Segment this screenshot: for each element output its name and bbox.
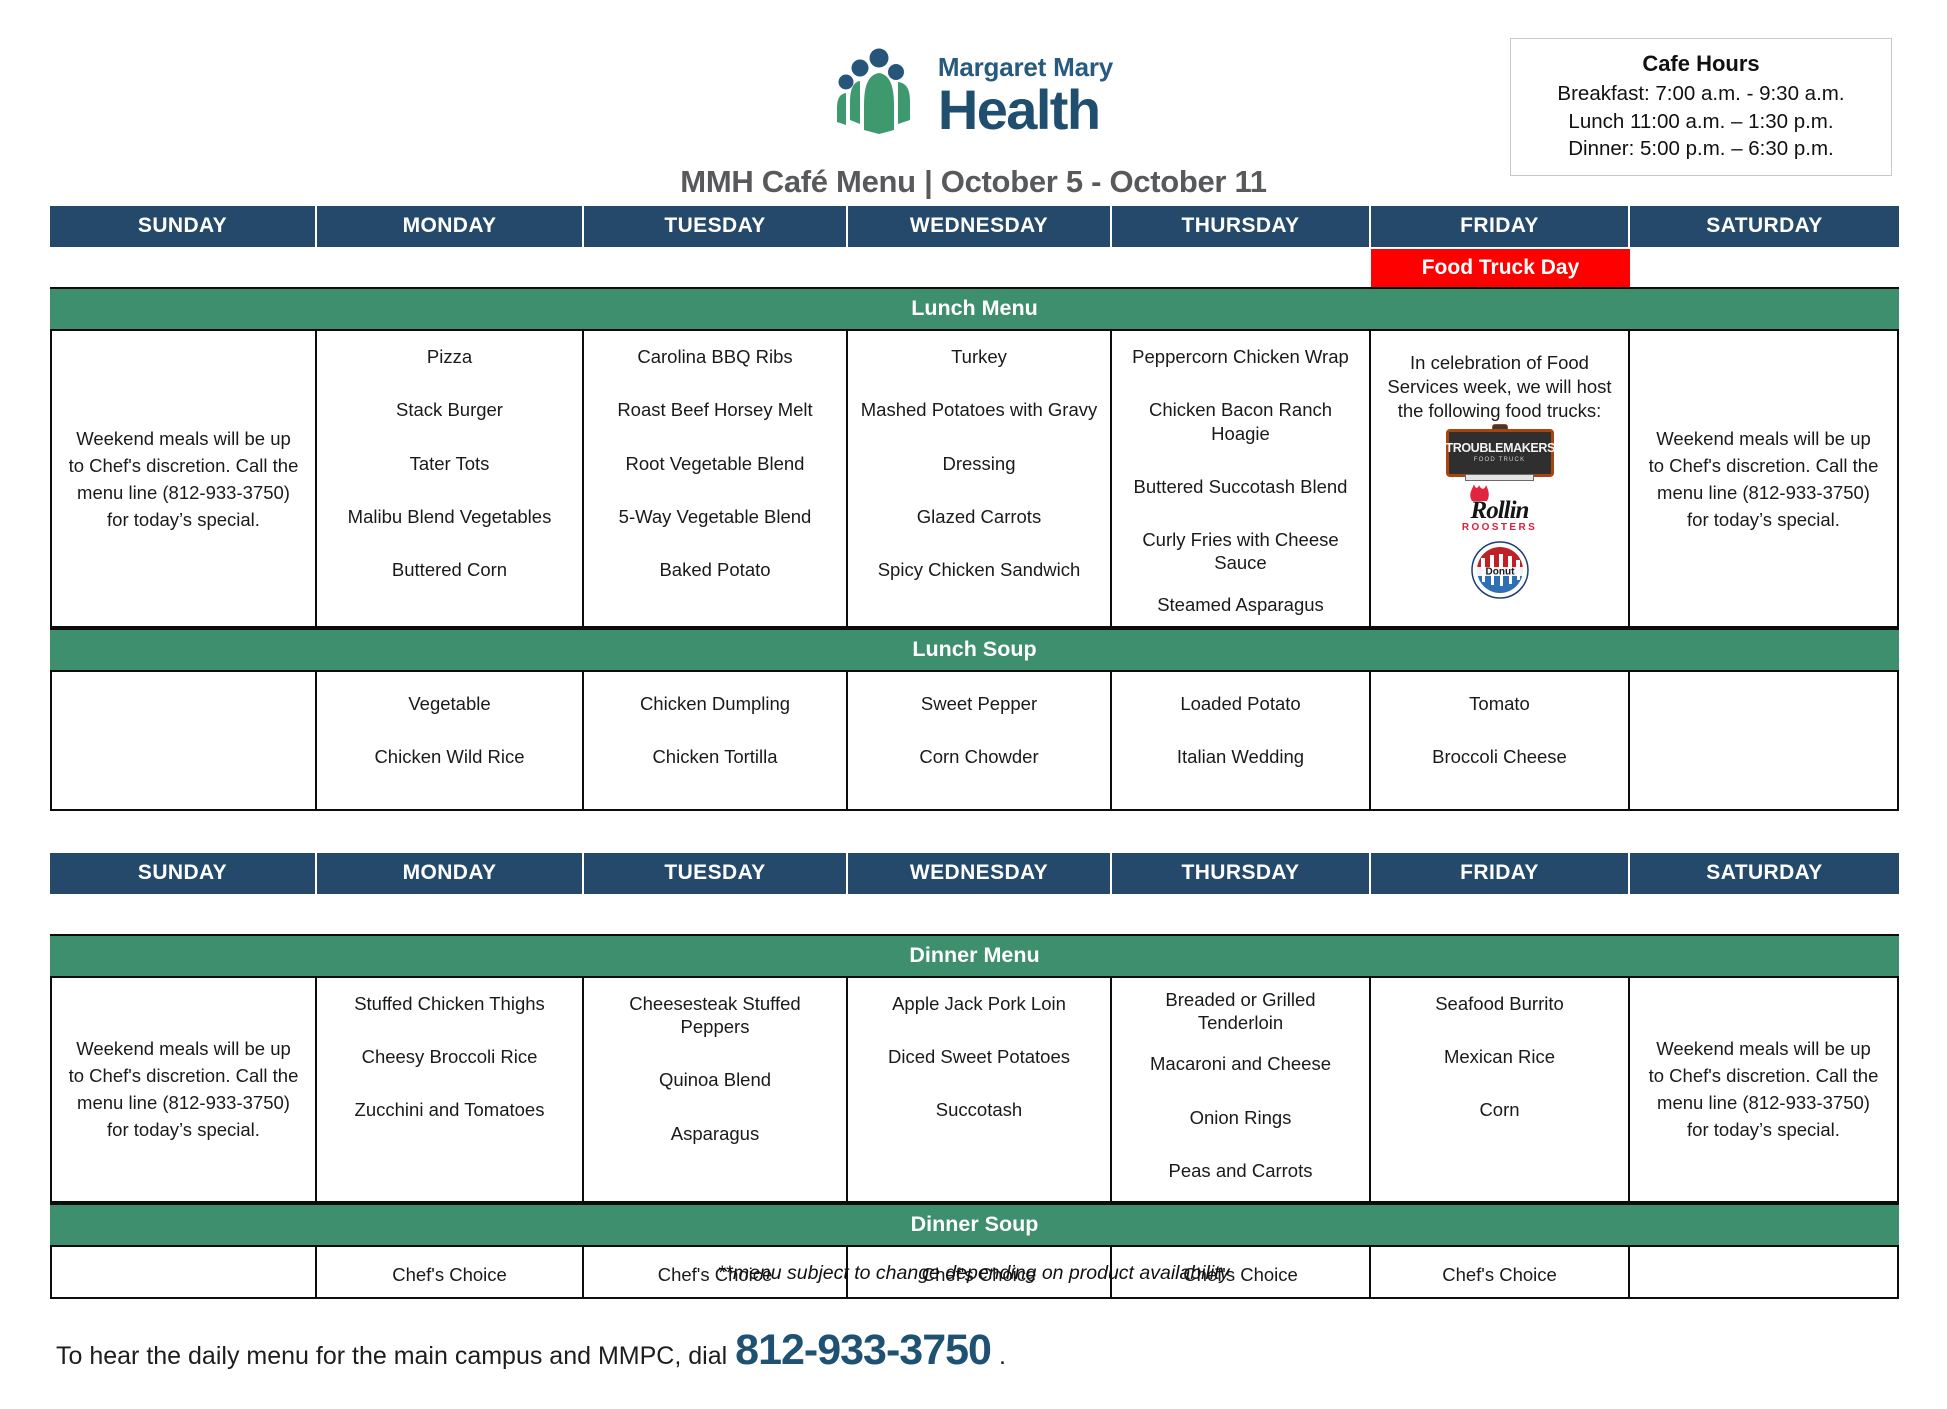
lunch-soup-cell-sunday — [50, 672, 317, 809]
menu-item: Quinoa Blend — [594, 1068, 836, 1091]
weekend-note-saturday-lunch: Weekend meals will be up to Chef's discr… — [1646, 425, 1881, 533]
day-header-wednesday: WEDNESDAY — [848, 206, 1112, 247]
lunch-cell-saturday: Weekend meals will be up to Chef's discr… — [1630, 331, 1899, 626]
lunch-cell-wednesday: Turkey Mashed Potatoes with Gravy Dressi… — [848, 331, 1112, 626]
dinner-cell-thursday: Breaded or Grilled Tenderloin Macaroni a… — [1112, 978, 1371, 1201]
day-header-sunday: SUNDAY — [50, 206, 317, 247]
brand-line-1: Margaret Mary — [938, 54, 1113, 80]
dinner-cell-friday: Seafood Burrito Mexican Rice Corn — [1371, 978, 1630, 1201]
day-header-saturday-2: SATURDAY — [1630, 853, 1899, 894]
menu-item: Peas and Carrots — [1122, 1159, 1359, 1182]
menu-item: Apple Jack Pork Loin — [858, 992, 1100, 1015]
day-header-monday: MONDAY — [317, 206, 584, 247]
brand-line-2: Health — [938, 82, 1113, 138]
menu-item: Cheesesteak Stuffed Peppers — [594, 992, 836, 1039]
flag-empty-tuesday — [584, 249, 848, 287]
day-header-tuesday-2: TUESDAY — [584, 853, 848, 894]
lunch-cell-thursday: Peppercorn Chicken Wrap Chicken Bacon Ra… — [1112, 331, 1371, 626]
flag-empty-saturday — [1630, 249, 1899, 287]
menu-item: Buttered Succotash Blend — [1122, 475, 1359, 498]
menu-item: Asparagus — [594, 1122, 836, 1145]
band-dinner-soup: Dinner Soup — [50, 1203, 1899, 1247]
day-header-thursday-2: THURSDAY — [1112, 853, 1371, 894]
page-header: Margaret Mary Health MMH Café Menu | Oct… — [0, 0, 1947, 206]
menu-item: Stack Burger — [327, 398, 572, 421]
band-lunch-soup: Lunch Soup — [50, 628, 1899, 672]
menu-item: Curly Fries with Cheese Sauce — [1122, 528, 1359, 575]
day-header-monday-2: MONDAY — [317, 853, 584, 894]
dinner-cell-sunday: Weekend meals will be up to Chef's discr… — [50, 978, 317, 1201]
soup-item: Italian Wedding — [1122, 745, 1359, 768]
food-truck-intro: In celebration of Food Services week, we… — [1381, 351, 1618, 423]
menu-item: Carolina BBQ Ribs — [594, 345, 836, 368]
flag-empty-sunday — [50, 249, 317, 287]
menu-item: Zucchini and Tomatoes — [327, 1098, 572, 1121]
svg-text:Donut: Donut — [1485, 567, 1515, 578]
soup-item: Chicken Wild Rice — [327, 745, 572, 768]
lunch-cell-friday: In celebration of Food Services week, we… — [1371, 331, 1630, 626]
lunch-cell-tuesday: Carolina BBQ Ribs Roast Beef Horsey Melt… — [584, 331, 848, 626]
day-header-wednesday-2: WEDNESDAY — [848, 853, 1112, 894]
day-header-thursday: THURSDAY — [1112, 206, 1371, 247]
lunch-soup-cell-tuesday: Chicken Dumpling Chicken Tortilla — [584, 672, 848, 809]
menu-item: Baked Potato — [594, 558, 836, 581]
soup-item: Loaded Potato — [1122, 692, 1359, 715]
menu-line-callout: To hear the daily menu for the main camp… — [56, 1326, 1006, 1375]
section-spacer-2 — [50, 894, 1899, 934]
lunch-menu-row: Weekend meals will be up to Chef's discr… — [50, 331, 1899, 628]
donut-nv-logo-icon: Donut — [1471, 541, 1529, 599]
menu-item: Cheesy Broccoli Rice — [327, 1045, 572, 1068]
menu-item: Mashed Potatoes with Gravy — [858, 398, 1100, 421]
menu-footnote: **menu subject to change depending on pr… — [0, 1262, 1947, 1285]
food-truck-day-badge: Food Truck Day — [1371, 249, 1630, 287]
day-header-friday: FRIDAY — [1371, 206, 1630, 247]
band-dinner-menu: Dinner Menu — [50, 934, 1899, 978]
menu-item: Root Vegetable Blend — [594, 452, 836, 475]
weekend-note-sunday-dinner: Weekend meals will be up to Chef's discr… — [68, 1035, 299, 1143]
menu-item: Turkey — [858, 345, 1100, 368]
dinner-cell-saturday: Weekend meals will be up to Chef's discr… — [1630, 978, 1899, 1201]
day-header-sunday-2: SUNDAY — [50, 853, 317, 894]
menu-item: Pizza — [327, 345, 572, 368]
menu-item: Diced Sweet Potatoes — [858, 1045, 1100, 1068]
menu-line-period: . — [999, 1342, 1006, 1371]
lunch-cell-monday: Pizza Stack Burger Tater Tots Malibu Ble… — [317, 331, 584, 626]
troublemakers-food-truck-logo-icon: TROUBLEMAKERS FOOD TRUCK — [1446, 429, 1554, 477]
weekend-note-sunday-lunch: Weekend meals will be up to Chef's discr… — [68, 425, 299, 533]
lunch-soup-cell-wednesday: Sweet Pepper Corn Chowder — [848, 672, 1112, 809]
soup-item: Broccoli Cheese — [1381, 745, 1618, 768]
day-header-saturday: SATURDAY — [1630, 206, 1899, 247]
menu-item: Tater Tots — [327, 452, 572, 475]
menu-item: Buttered Corn — [327, 558, 572, 581]
menu-item: Spicy Chicken Sandwich — [858, 558, 1100, 581]
weekend-note-saturday-dinner: Weekend meals will be up to Chef's discr… — [1646, 1035, 1881, 1143]
day-header-friday-2: FRIDAY — [1371, 853, 1630, 894]
day-header-tuesday: TUESDAY — [584, 206, 848, 247]
cafe-hours-dinner: Dinner: 5:00 p.m. – 6:30 p.m. — [1519, 135, 1883, 162]
dinner-cell-monday: Stuffed Chicken Thighs Cheesy Broccoli R… — [317, 978, 584, 1201]
lunch-soup-cell-saturday — [1630, 672, 1899, 809]
cafe-hours-title: Cafe Hours — [1519, 49, 1883, 78]
menu-item: Succotash — [858, 1098, 1100, 1121]
day-header-row-dinner: SUNDAY MONDAY TUESDAY WEDNESDAY THURSDAY… — [50, 853, 1899, 894]
lunch-soup-cell-monday: Vegetable Chicken Wild Rice — [317, 672, 584, 809]
cafe-hours-lunch: Lunch 11:00 a.m. – 1:30 p.m. — [1519, 108, 1883, 135]
menu-item: Roast Beef Horsey Melt — [594, 398, 836, 421]
section-spacer — [50, 811, 1899, 853]
menu-line-text: To hear the daily menu for the main camp… — [56, 1342, 727, 1371]
band-lunch-menu: Lunch Menu — [50, 287, 1899, 331]
menu-sheet: SUNDAY MONDAY TUESDAY WEDNESDAY THURSDAY… — [50, 206, 1899, 1299]
food-truck-logo-list: TROUBLEMAKERS FOOD TRUCK Rollin ROOSTERS — [1381, 429, 1618, 599]
menu-item: Macaroni and Cheese — [1122, 1052, 1359, 1075]
soup-item: Chicken Dumpling — [594, 692, 836, 715]
menu-item: Chicken Bacon Ranch Hoagie — [1122, 398, 1359, 445]
cafe-hours-breakfast: Breakfast: 7:00 a.m. - 9:30 a.m. — [1519, 80, 1883, 107]
menu-line-phone-number[interactable]: 812-933-3750 — [735, 1326, 991, 1375]
menu-item: Glazed Carrots — [858, 505, 1100, 528]
rollin-roosters-logo-icon: Rollin ROOSTERS — [1444, 481, 1556, 537]
menu-item: Corn — [1381, 1098, 1618, 1121]
flag-empty-monday — [317, 249, 584, 287]
menu-item: Onion Rings — [1122, 1106, 1359, 1129]
soup-item: Chicken Tortilla — [594, 745, 836, 768]
day-header-row-lunch: SUNDAY MONDAY TUESDAY WEDNESDAY THURSDAY… — [50, 206, 1899, 247]
cafe-hours-box: Cafe Hours Breakfast: 7:00 a.m. - 9:30 a… — [1510, 38, 1892, 176]
menu-item: Stuffed Chicken Thighs — [327, 992, 572, 1015]
soup-item: Tomato — [1381, 692, 1618, 715]
menu-item: 5-Way Vegetable Blend — [594, 505, 836, 528]
dinner-cell-wednesday: Apple Jack Pork Loin Diced Sweet Potatoe… — [848, 978, 1112, 1201]
lunch-soup-cell-thursday: Loaded Potato Italian Wedding — [1112, 672, 1371, 809]
lunch-cell-sunday: Weekend meals will be up to Chef's discr… — [50, 331, 317, 626]
menu-item: Steamed Asparagus — [1122, 593, 1359, 616]
flag-empty-wednesday — [848, 249, 1112, 287]
menu-item: Mexican Rice — [1381, 1045, 1618, 1068]
menu-item: Breaded or Grilled Tenderloin — [1122, 988, 1359, 1035]
lunch-soup-row: Vegetable Chicken Wild Rice Chicken Dump… — [50, 672, 1899, 811]
soup-item: Vegetable — [327, 692, 572, 715]
flag-empty-thursday — [1112, 249, 1371, 287]
soup-item: Corn Chowder — [858, 745, 1100, 768]
food-truck-flag-row: Food Truck Day — [50, 249, 1899, 287]
people-group-logo-icon — [834, 48, 924, 134]
menu-item: Seafood Burrito — [1381, 992, 1618, 1015]
dinner-cell-tuesday: Cheesesteak Stuffed Peppers Quinoa Blend… — [584, 978, 848, 1201]
menu-item: Malibu Blend Vegetables — [327, 505, 572, 528]
lunch-soup-cell-friday: Tomato Broccoli Cheese — [1371, 672, 1630, 809]
menu-item: Peppercorn Chicken Wrap — [1122, 345, 1359, 368]
dinner-menu-row: Weekend meals will be up to Chef's discr… — [50, 978, 1899, 1203]
soup-item: Sweet Pepper — [858, 692, 1100, 715]
menu-item: Dressing — [858, 452, 1100, 475]
